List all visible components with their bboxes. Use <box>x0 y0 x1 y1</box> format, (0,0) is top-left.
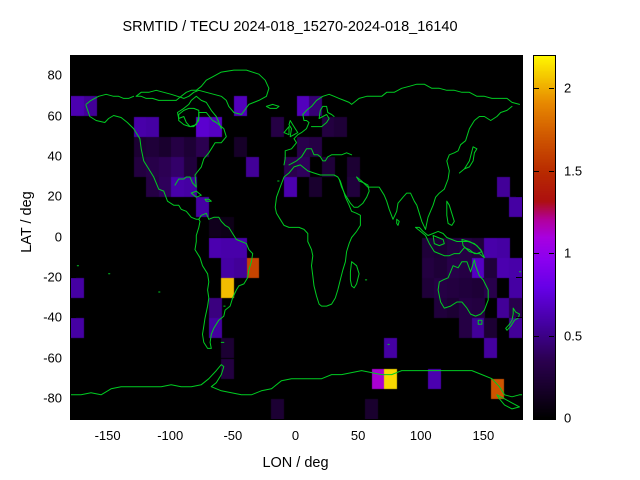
y-tick-mark <box>70 237 76 238</box>
colorbar-tick-label: 1 <box>564 246 571 261</box>
y-tick-mark-right <box>516 156 522 157</box>
y-tick-mark-right <box>516 277 522 278</box>
colorbar-tick-mark-left <box>534 171 539 172</box>
x-tick-mark-top <box>108 55 109 61</box>
x-tick-mark-top <box>483 55 484 61</box>
x-tick-mark <box>421 413 422 419</box>
colorbar-tick-mark-right <box>549 88 554 89</box>
colorbar-tick-mark-left <box>534 418 539 419</box>
y-tick-label: 80 <box>24 68 62 83</box>
x-tick-mark <box>108 413 109 419</box>
y-tick-mark <box>70 116 76 117</box>
y-tick-mark <box>70 75 76 76</box>
x-tick-mark <box>358 413 359 419</box>
x-tick-label: 150 <box>473 428 495 443</box>
y-tick-label: -40 <box>24 310 62 325</box>
y-axis-title: LAT / deg <box>19 162 35 282</box>
x-tick-mark-top <box>233 55 234 61</box>
y-tick-mark-right <box>516 398 522 399</box>
x-tick-label: 0 <box>292 428 299 443</box>
y-tick-mark-right <box>516 237 522 238</box>
colorbar-tick-mark-right <box>549 171 554 172</box>
y-tick-label: -80 <box>24 390 62 405</box>
x-tick-label: 50 <box>351 428 365 443</box>
y-tick-mark-right <box>516 196 522 197</box>
x-tick-label: -150 <box>95 428 121 443</box>
x-tick-mark-top <box>170 55 171 61</box>
colorbar <box>533 55 556 420</box>
x-tick-label: 100 <box>410 428 432 443</box>
y-tick-mark <box>70 196 76 197</box>
y-tick-mark-right <box>516 358 522 359</box>
y-tick-mark <box>70 317 76 318</box>
y-tick-mark <box>70 156 76 157</box>
heatmap-cells <box>71 56 522 419</box>
y-tick-mark <box>70 358 76 359</box>
x-tick-mark-top <box>296 55 297 61</box>
x-tick-mark <box>483 413 484 419</box>
x-axis-title: LON / deg <box>70 455 521 471</box>
colorbar-tick-mark-left <box>534 253 539 254</box>
colorbar-tick-label: 0 <box>564 411 571 426</box>
y-tick-mark-right <box>516 75 522 76</box>
y-tick-mark-right <box>516 116 522 117</box>
colorbar-gradient <box>534 56 555 419</box>
y-tick-mark <box>70 277 76 278</box>
colorbar-tick-mark-left <box>534 336 539 337</box>
y-tick-label: -60 <box>24 350 62 365</box>
x-tick-mark <box>170 413 171 419</box>
colorbar-tick-mark-left <box>534 88 539 89</box>
colorbar-tick-label: 1.5 <box>564 163 582 178</box>
colorbar-tick-label: 2 <box>564 81 571 96</box>
page-title: SRMTID / TECU 2024-018_15270-2024-018_16… <box>0 19 580 35</box>
x-tick-label: -100 <box>157 428 183 443</box>
x-tick-mark <box>233 413 234 419</box>
chart-root: SRMTID / TECU 2024-018_15270-2024-018_16… <box>0 0 640 480</box>
x-tick-mark-top <box>358 55 359 61</box>
colorbar-tick-mark-right <box>549 253 554 254</box>
colorbar-tick-label: 0.5 <box>564 328 582 343</box>
y-tick-mark <box>70 398 76 399</box>
map-plot-area <box>70 55 523 420</box>
y-tick-mark-right <box>516 317 522 318</box>
y-tick-label: 60 <box>24 108 62 123</box>
x-tick-mark <box>296 413 297 419</box>
colorbar-tick-mark-right <box>549 336 554 337</box>
colorbar-tick-mark-right <box>549 418 554 419</box>
x-tick-label: -50 <box>223 428 242 443</box>
x-tick-mark-top <box>421 55 422 61</box>
